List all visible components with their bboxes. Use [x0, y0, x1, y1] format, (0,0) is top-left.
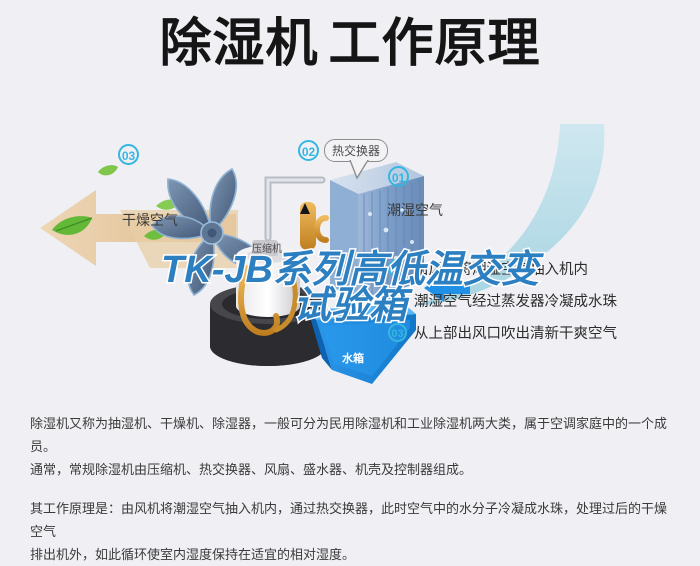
page-title-text: 除湿机工作原理 — [159, 18, 540, 70]
diagram-badge-03: 03 — [118, 144, 139, 165]
diagram-badge-02: 02 — [298, 140, 319, 161]
annotation-list: 01 由风机将潮湿空气抽入机内 02 潮湿空气经过蒸发器冷凝成水珠 03 从上部… — [388, 252, 688, 348]
diagram-label-water-tank: 水箱 — [342, 350, 364, 366]
diagram-label-compressor: 压缩机 — [252, 240, 282, 255]
annotation-text-03: 从上部出风口吹出清新干爽空气 — [414, 322, 617, 343]
paragraph-2-line-2: 排出机外，如此循环使室内湿度保持在适宜的相对湿度。 — [30, 547, 355, 562]
callout-heat-exchanger: 热交换器 — [324, 139, 388, 162]
callout-pointer-icon — [348, 160, 374, 180]
diagram-label-humid-air: 潮湿空气 — [387, 200, 443, 220]
paragraph-2: 其工作原理是：由风机将潮湿空气抽入机内，通过热交换器，此时空气中的水分子冷凝成水… — [30, 497, 678, 566]
annotation-row-02: 02 潮湿空气经过蒸发器冷凝成水珠 — [388, 284, 688, 316]
diagram-label-dry-air: 干燥空气 — [122, 210, 178, 230]
paragraph-2-line-1: 其工作原理是：由风机将潮湿空气抽入机内，通过热交换器，此时空气中的水分子冷凝成水… — [30, 501, 667, 539]
annotation-text-01: 由风机将潮湿空气抽入机内 — [414, 258, 588, 279]
page-title: 除湿机工作原理 — [0, 18, 700, 70]
annotation-badge-01: 01 — [388, 259, 407, 278]
page-title-part-1: 除湿机 — [159, 15, 318, 73]
annotation-row-01: 01 由风机将潮湿空气抽入机内 — [388, 252, 688, 284]
paragraph-1-line-2: 通常，常规除湿机由压缩机、热交换器、风扇、盛水器、机壳及控制器组成。 — [30, 462, 472, 477]
diagram-badge-01: 01 — [388, 166, 409, 187]
annotation-badge-03: 03 — [388, 323, 407, 342]
annotation-row-03: 03 从上部出风口吹出清新干爽空气 — [388, 316, 688, 348]
annotation-text-02: 潮湿空气经过蒸发器冷凝成水珠 — [414, 290, 617, 311]
page-title-part-2: 工作原理 — [329, 15, 541, 73]
paragraph-1: 除湿机又称为抽湿机、干燥机、除湿器，一般可分为民用除湿机和工业除湿机两大类，属于… — [30, 412, 678, 481]
annotation-badge-02: 02 — [388, 291, 407, 310]
paragraph-1-line-1: 除湿机又称为抽湿机、干燥机、除湿器，一般可分为民用除湿机和工业除湿机两大类，属于… — [30, 416, 667, 454]
dehumidifier-principle-infographic: 除湿机工作原理 — [0, 0, 700, 566]
body-copy: 除湿机又称为抽湿机、干燥机、除湿器，一般可分为民用除湿机和工业除湿机两大类，属于… — [30, 412, 678, 566]
